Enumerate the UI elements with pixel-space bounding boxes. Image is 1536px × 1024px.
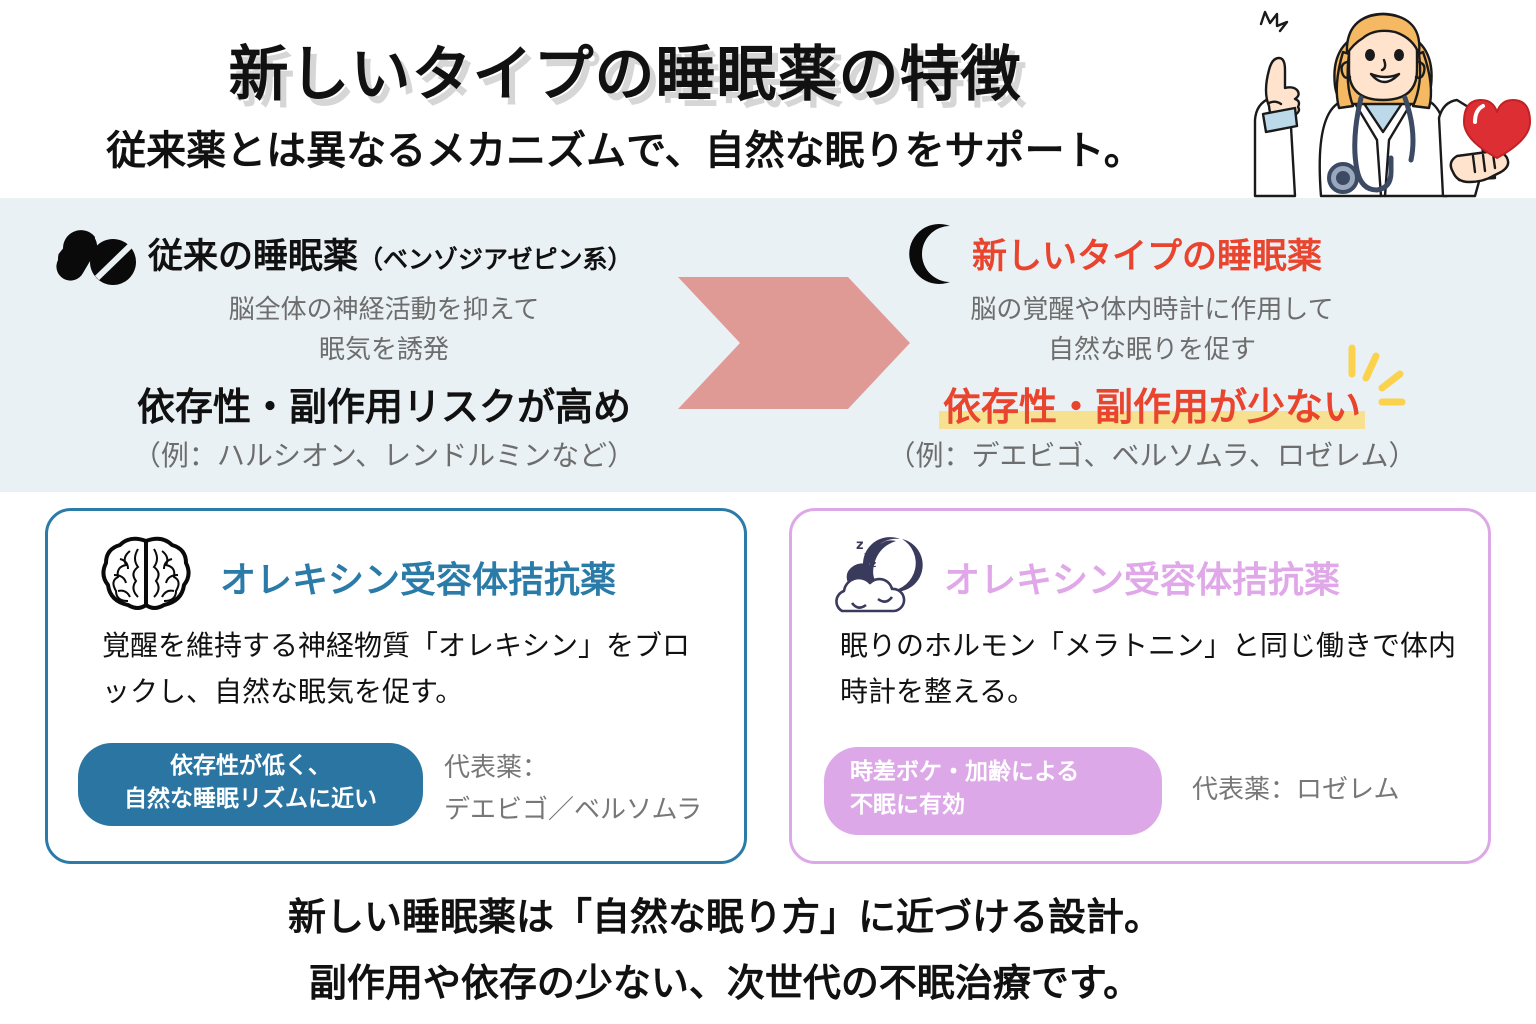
svg-text:z: z [871,560,876,570]
old-heading-text: 従来の睡眠薬（ベンゾジアゼピン系） [148,228,633,279]
svg-text:z: z [856,538,864,553]
card-melatonin-agonist[interactable]: z z z オレキシン受容体拮抗薬 眠りのホルモン「メラトニン」と同じ働きで体内… [789,508,1491,864]
sleeping-moon-cloud-icon: z z z [830,533,926,617]
svg-text:z: z [864,549,870,562]
card-title-melatonin: オレキシン受容体拮抗薬 [944,551,1340,603]
representative-label-melatonin: 代表薬：ロゼレム [1192,769,1399,811]
pills-icon [50,224,146,286]
representative-drug-orexin: 代表薬： デエビゴ／ベルソムラ [444,747,702,831]
page-subtitle: 従来薬とは異なるメカニズムで、自然な眠りをサポート。 [0,118,1250,176]
representative-label-orexin: 代表薬： [444,747,702,789]
infographic-root: 新しいタイプの睡眠薬の特徴 従来薬とは異なるメカニズムで、自然な眠りをサポート。 [0,0,1536,1024]
sparkle-icon [1330,330,1430,430]
card-title-orexin: オレキシン受容体拮抗薬 [220,551,616,603]
new-heading-text: 新しいタイプの睡眠薬 [972,228,1322,279]
comparison-column-old: 従来の睡眠薬（ベンゾジアゼピン系） 脳全体の神経活動を抑えて 眠気を誘発 依存性… [0,198,768,492]
old-heading-row: 従来の睡眠薬（ベンゾジアゼピン系） [0,216,768,278]
badge-melatonin-line2: 不眠に有効 [850,789,1162,822]
old-description-line2: 眠気を誘発 [0,330,768,370]
header: 新しいタイプの睡眠薬の特徴 従来薬とは異なるメカニズムで、自然な眠りをサポート。 [0,0,1536,198]
footer-line-1: 新しい睡眠薬は「自然な眠り方」に近づける設計。 [0,886,1450,941]
card-body-orexin: 覚醒を維持する神経物質「オレキシン」をブロックし、自然な眠気を促す。 [102,623,712,715]
brain-icon [100,533,192,611]
badge-melatonin: 時差ボケ・加齢による 不眠に有効 [824,747,1162,835]
old-description-line1: 脳全体の神経活動を抑えて [0,290,768,330]
page-title: 新しいタイプの睡眠薬の特徴 [0,26,1250,113]
new-heading-row: 新しいタイプの睡眠薬 [768,216,1536,278]
representative-drug-melatonin: 代表薬：ロゼレム [1192,769,1399,811]
new-examples: （例：デエビゴ、ベルソムラ、ロゼレム） [768,434,1536,474]
old-risk-statement: 依存性・副作用リスクが高め [0,376,768,431]
representative-value-orexin: デエビゴ／ベルソムラ [444,789,702,831]
card-body-melatonin: 眠りのホルモン「メラトニン」と同じ働きで体内時計を整える。 [840,623,1460,715]
footer: 新しい睡眠薬は「自然な眠り方」に近づける設計。 副作用や依存の少ない、次世代の不… [0,876,1536,1024]
old-description: 脳全体の神経活動を抑えて 眠気を誘発 [0,290,768,370]
old-heading-sub: （ベンゾジアゼピン系） [358,245,633,274]
card-orexin-antagonist[interactable]: オレキシン受容体拮抗薬 覚醒を維持する神経物質「オレキシン」をブロックし、自然な… [45,508,747,864]
old-examples: （例：ハルシオン、レンドルミンなど） [0,434,768,474]
old-heading-main: 従来の睡眠薬 [148,237,358,277]
footer-line-2: 副作用や依存の少ない、次世代の不眠治療です。 [0,952,1450,1007]
badge-orexin-line2: 自然な睡眠リズムに近い [78,783,423,816]
badge-orexin: 依存性が低く、 自然な睡眠リズムに近い [78,743,423,826]
right-chevron-arrow-icon [660,277,910,409]
badge-melatonin-line1: 時差ボケ・加齢による [850,756,1162,789]
female-doctor-illustration [1225,0,1536,200]
new-benefit-highlight: 依存性・副作用が少ない [939,385,1365,429]
badge-orexin-line1: 依存性が低く、 [78,750,423,783]
